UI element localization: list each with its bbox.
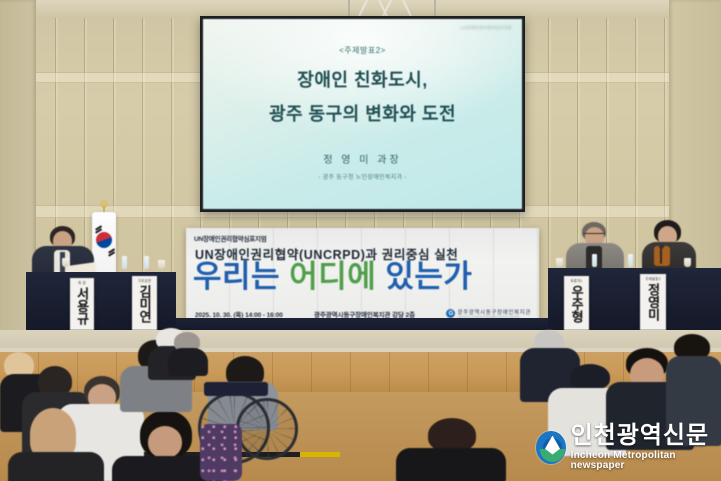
audience-person-8 [168,332,208,374]
watermark-text: 인천광역신문 Incheon Metropolitan newspaper [571,424,716,471]
sponsor-name: 광주광역시동구장애인복지관 [457,308,531,316]
event-banner: UN장애인권리협약심포지엄 UN장애인권리협약(UNCRPD)과 권리중심 실천… [186,228,539,322]
bottle-right [592,254,597,267]
cup-left [62,258,69,267]
placard-jeong-name: 정영미 [646,283,659,321]
wheelchair-wheel-right [236,398,298,460]
cup-right [556,258,563,267]
placard-woo: 토론자1 우주형 [564,276,589,330]
audience-person-4 [8,408,104,481]
placard-jeong: 주제발표2 정영미 [640,274,666,330]
banner-date: 2025. 10. 30. (목) 14:00 - 16:00 [195,309,283,319]
wheelchair-backpack [200,424,242,481]
photo-scene: UN장애인권리협약심포지엄 <주제발표2> 장애인 친화도시, 광주 동구의 변… [0,0,721,481]
slide-presenter: 정 영 미 과장 [323,151,401,166]
banner-headline: 우리는 어디에 있는가 [193,261,537,292]
projection-screen: UN장애인권리협약심포지엄 <주제발표2> 장애인 친화도시, 광주 동구의 변… [200,16,525,212]
bottle-right-2 [628,254,633,267]
banner-headline-part3: 있는가 [385,259,472,294]
presentation-slide: UN장애인권리협약심포지엄 <주제발표2> 장애인 친화도시, 광주 동구의 변… [203,19,522,209]
banner-headline-part1: 우리는 [193,259,289,294]
audience-person-13 [396,418,506,481]
flag-taegeuk [96,232,112,248]
placard-woo-name: 우주형 [570,285,583,323]
placard-woo-role: 토론자1 [570,278,582,283]
banner-header-label: UN장애인권리협약심포지엄 [194,233,267,243]
slide-title-line1: 장애인 친화도시, [297,66,427,92]
microphone [660,248,662,264]
placard-seo-role: 좌 장 [78,280,86,285]
cup-right-2 [684,258,691,267]
placard-kim: 기조강연 김미연 [132,276,157,330]
slide-organization: - 광주 동구청 노인장애인복지과 - [318,172,406,181]
placard-jeong-role: 주제발표2 [645,276,660,281]
panelist-jeong-scarf [654,246,670,266]
wheelchair-back [204,382,268,396]
slide-header-note: UN장애인권리협약심포지엄 [461,25,512,31]
placard-seo: 좌 장 서용규 [70,278,94,330]
banner-place: 광주광역시동구장애인복지관 강당 2층 [314,309,415,319]
cup-left-2 [158,260,165,269]
placard-kim-name: 김미연 [138,285,151,323]
glasses-icon [583,233,605,239]
bottle-left-2 [144,256,149,269]
sponsor-mark-icon: G [446,309,455,318]
placard-kim-role: 기조강연 [138,278,151,283]
banner-headline-part2: 어디에 [289,259,385,294]
placard-seo-name: 서용규 [75,287,88,325]
slide-title-line2: 광주 동구의 변화와 도전 [269,100,456,126]
watermark-korean: 인천광역신문 [571,424,716,448]
watermark: 인천광역신문 Incheon Metropolitan newspaper [536,424,716,470]
slide-kicker: <주제발표2> [339,45,386,56]
newspaper-logo-icon [536,431,566,464]
bottle-left [122,256,127,269]
floor-yellow-marker [300,452,340,457]
watermark-english: Incheon Metropolitan newspaper [571,451,716,471]
